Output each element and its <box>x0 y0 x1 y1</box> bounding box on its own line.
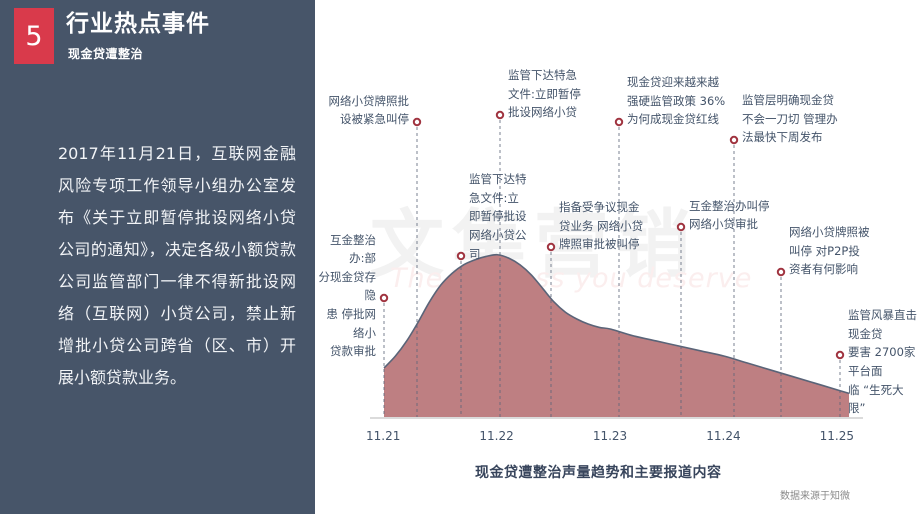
chart-panel: 文集营销 The success you deserve 互金整治办:部 分现金… <box>315 0 918 514</box>
x-tick-11.21: 11.21 <box>366 429 400 443</box>
annotation-marker[interactable] <box>458 253 464 259</box>
annotation-label-a8: 监管层明确现金贷 不会一刀切 管理办 法最快下周发布 <box>742 91 838 147</box>
annotation-marker[interactable] <box>616 119 622 125</box>
annotation-marker[interactable] <box>837 352 843 358</box>
x-tick-11.25: 11.25 <box>820 429 854 443</box>
annotation-label-a2: 网络小贷牌照批 设被紧急叫停 <box>329 92 410 129</box>
panel-body-text: 2017年11月21日，互联网金融风险专项工作领导小组办公室发布《关于立即暂停批… <box>58 138 296 394</box>
annotation-label-a3: 监管下达特 急文件:立 即暂停批设 网络小贷公 司 <box>469 170 527 263</box>
x-tick-11.22: 11.22 <box>479 429 513 443</box>
annotation-label-a9: 网络小贷牌照被 叫停 对P2P投 资者有何影响 <box>789 223 870 279</box>
annotation-marker[interactable] <box>548 244 554 250</box>
chart-source: 数据来源于知微 <box>780 487 850 502</box>
annotation-marker[interactable] <box>778 269 784 275</box>
annotation-label-a6: 现金贷迎来越来越 强硬监管政策 36% 为何成现金贷红线 <box>627 73 725 129</box>
annotation-label-a1: 互金整治办:部 分现金贷存隐 患 停批网络小 贷款审批 <box>315 231 376 361</box>
annotation-marker[interactable] <box>731 137 737 143</box>
annotation-label-a7: 互金整治办叫停 网络小贷审批 <box>689 197 770 234</box>
annotation-marker[interactable] <box>414 119 420 125</box>
x-tick-11.23: 11.23 <box>593 429 627 443</box>
page-title: 行业热点事件 <box>66 10 210 39</box>
section-number-badge: 5 <box>14 8 54 64</box>
left-info-panel: 5 行业热点事件 现金贷遭整治 2017年11月21日，互联网金融风险专项工作领… <box>0 0 315 514</box>
annotation-marker[interactable] <box>381 295 387 301</box>
x-tick-11.24: 11.24 <box>706 429 740 443</box>
annotation-marker[interactable] <box>678 224 684 230</box>
chart-caption: 现金贷遭整治声量趋势和主要报道内容 <box>475 462 722 482</box>
page-subtitle: 现金贷遭整治 <box>68 45 210 62</box>
annotation-label-a4: 监管下达特急 文件:立即暂停 批设网络小贷 <box>508 66 581 122</box>
annotation-label-a10: 监管风暴直击现金贷 要害 2700家平台面 临 “生死大限” <box>848 306 918 418</box>
area-fill <box>384 255 849 417</box>
panel-title-block: 行业热点事件 现金贷遭整治 <box>66 10 210 62</box>
annotation-marker[interactable] <box>497 112 503 118</box>
annotation-label-a5: 指备受争议现金 贷业务 网络小贷 牌照审批被叫停 <box>559 198 643 254</box>
